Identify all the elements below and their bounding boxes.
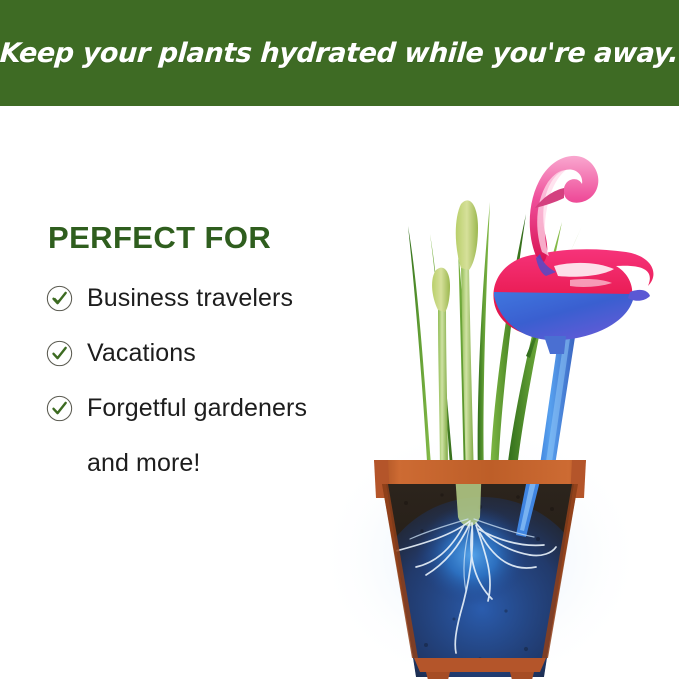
pot-foot bbox=[426, 672, 450, 679]
list-item-label: and more! bbox=[87, 449, 200, 478]
list-item-label: Vacations bbox=[87, 339, 196, 368]
globe-water-fill bbox=[494, 292, 633, 340]
pot-foot bbox=[510, 672, 534, 679]
product-photo bbox=[330, 106, 679, 679]
pot-rim bbox=[374, 460, 586, 484]
check-circle-icon bbox=[46, 395, 73, 422]
plant-bud bbox=[432, 268, 450, 312]
list-item-label: Forgetful gardeners bbox=[87, 394, 307, 423]
product-infographic: Keep your plants hydrated while you're a… bbox=[0, 0, 679, 679]
list-item-label: Business travelers bbox=[87, 284, 293, 313]
globe-tail bbox=[628, 290, 650, 301]
header-banner: Keep your plants hydrated while you're a… bbox=[0, 0, 679, 106]
product-scene-illustration bbox=[330, 106, 679, 679]
pot-base bbox=[414, 658, 546, 672]
banner-headline: Keep your plants hydrated while you're a… bbox=[0, 38, 679, 69]
plant-bud bbox=[456, 200, 478, 270]
globe-neck-base bbox=[544, 336, 566, 354]
check-circle-icon bbox=[46, 340, 73, 367]
list-item-spacer bbox=[46, 450, 73, 477]
check-circle-icon bbox=[46, 285, 73, 312]
